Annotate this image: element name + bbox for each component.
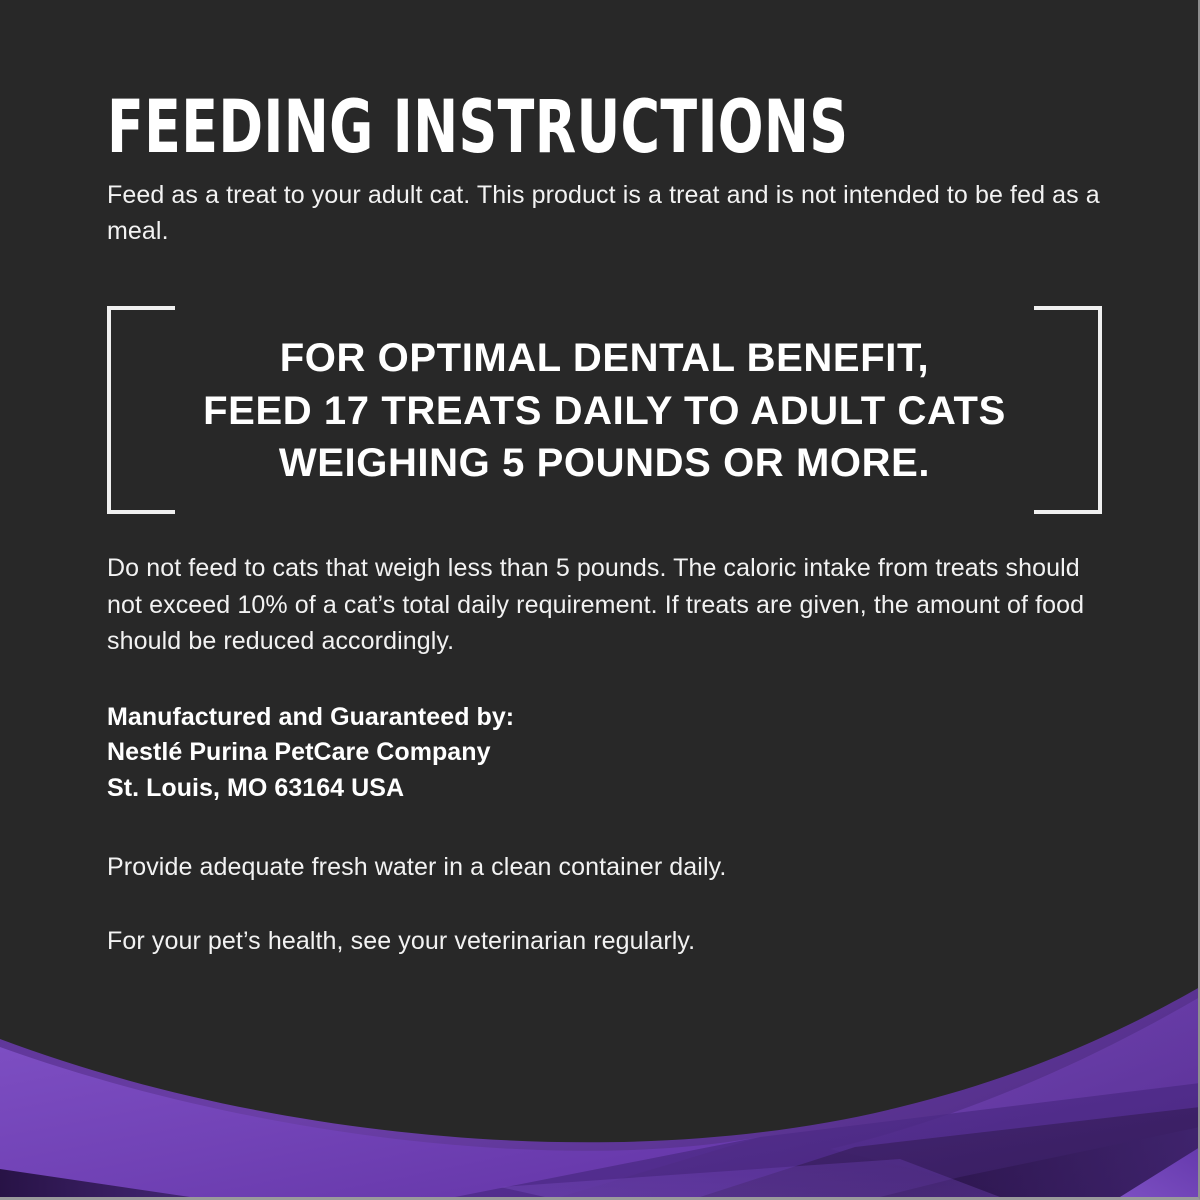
callout-line-1: FOR OPTIMAL DENTAL BENEFIT,: [175, 332, 1034, 384]
callout-text: FOR OPTIMAL DENTAL BENEFIT, FEED 17 TREA…: [175, 332, 1034, 489]
dental-benefit-callout: FOR OPTIMAL DENTAL BENEFIT, FEED 17 TREA…: [107, 306, 1102, 514]
panel-content: FEEDING INSTRUCTIONS Feed as a treat to …: [107, 94, 1107, 984]
water-note: Provide adequate fresh water in a clean …: [107, 850, 1107, 885]
manufacturer-heading: Manufactured and Guaranteed by:: [107, 700, 1107, 736]
feeding-instructions-panel: FEEDING INSTRUCTIONS Feed as a treat to …: [0, 0, 1200, 1200]
manufacturer-company: Nestlé Purina PetCare Company: [107, 735, 1107, 771]
caution-paragraph: Do not feed to cats that weigh less than…: [107, 550, 1107, 660]
callout-line-3: WEIGHING 5 POUNDS OR MORE.: [175, 437, 1034, 489]
bracket-left-icon: [107, 306, 175, 514]
callout-spacer: [107, 514, 1107, 550]
page-title: FEEDING INSTRUCTIONS: [107, 94, 927, 161]
intro-paragraph: Feed as a treat to your adult cat. This …: [107, 177, 1102, 249]
manufacturer-address: St. Louis, MO 63164 USA: [107, 771, 1107, 807]
manufacturer-block: Manufactured and Guaranteed by: Nestlé P…: [107, 700, 1107, 807]
veterinarian-note: For your pet’s health, see your veterina…: [107, 924, 1107, 959]
bracket-right-icon: [1034, 306, 1102, 514]
purple-wave-graphic: [0, 987, 1200, 1197]
callout-line-2: FEED 17 TREATS DAILY TO ADULT CATS: [175, 385, 1034, 437]
